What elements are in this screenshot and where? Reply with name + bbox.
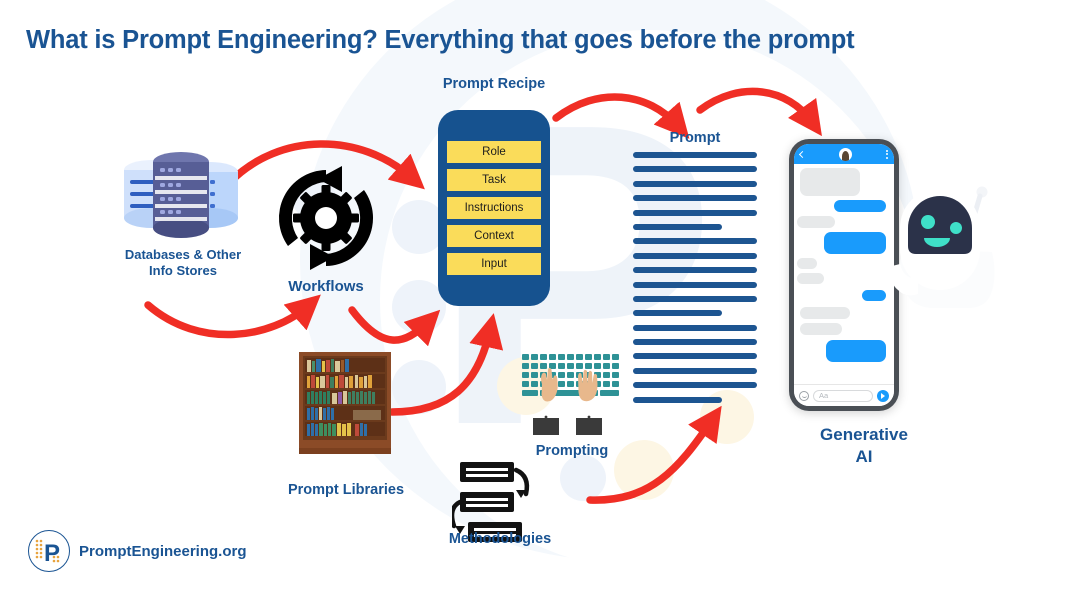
chat-bubble-incoming [800,323,842,335]
recipe-item-input[interactable]: Input [447,253,541,275]
recipe-item-task[interactable]: Task [447,169,541,191]
generative-ai-label-line2: AI [790,446,938,468]
chat-bubble-incoming [800,307,850,319]
prompt-text-line [633,210,757,216]
gear-cycle-icon [268,160,384,276]
chevron-left-icon[interactable] [799,150,806,157]
generative-ai-label: Generative AI [790,424,938,468]
prompt-text-line [633,181,757,187]
chat-bubble-outgoing [824,232,886,254]
prompt-text-line [633,397,722,403]
decor-circle [560,455,606,501]
prompt-recipe-label: Prompt Recipe [428,76,560,94]
prompt-text-line [633,195,757,201]
prompt-text-line [633,339,757,345]
prompt-text-line [633,310,722,316]
bookshelf-icon [299,352,391,457]
brand-logo[interactable]: P PromptEngineering.org [28,530,247,572]
prompt-recipe-card: Role Task Instructions Context Input [438,110,550,306]
chat-message-list [794,164,894,382]
databases-label-line2: Info Stores [108,263,258,279]
chat-bubble-incoming [797,273,824,284]
prompt-text-line [633,325,757,331]
chat-input-bar[interactable]: Aa [794,384,894,406]
phone-screen: Aa [794,144,894,406]
databases-label: Databases & Other Info Stores [108,247,258,279]
prompt-text-line [633,152,757,158]
chat-bubble-incoming [800,168,860,196]
prompt-text-line [633,368,757,374]
keyboard-hands-icon [520,352,624,440]
arrow-workflows-to-recipe [352,310,428,340]
prompt-text-block [633,152,757,411]
workflows-label: Workflows [264,278,388,296]
arrow-prompt-to-genai [700,91,812,122]
prompt-label: Prompt [633,130,757,148]
avatar[interactable] [839,148,852,161]
generative-ai-label-line1: Generative [790,424,938,446]
prompt-text-line [633,282,757,288]
chat-bubble-outgoing [862,290,886,301]
prompt-text-line [633,382,757,388]
prompt-text-line [633,296,757,302]
arrow-to-workflows [148,305,308,335]
infographic-canvas: P What is Prompt Engineering? Everything… [0,0,1080,608]
svg-text:P: P [44,540,60,567]
prompt-libraries-label: Prompt Libraries [275,482,417,500]
arrow-libraries-to-recipe [392,330,490,412]
decor-circle [392,360,446,414]
brand-name: PromptEngineering.org [79,543,247,560]
emoji-smile-icon[interactable] [799,391,809,401]
prompt-text-line [633,353,757,359]
prompt-text-line [633,166,757,172]
prompt-text-line [633,253,757,259]
prompting-label: Prompting [512,443,632,461]
chat-bubble-incoming [797,258,817,269]
prompt-text-line [633,267,757,273]
kebab-menu-icon[interactable] [886,150,888,159]
chat-bubble-incoming [797,216,835,228]
prompt-text-line [633,224,722,230]
chat-header [794,144,894,164]
recipe-item-context[interactable]: Context [447,225,541,247]
chat-bubble-outgoing [834,200,886,212]
recipe-item-instructions[interactable]: Instructions [447,197,541,219]
database-stack-icon [118,150,244,242]
page-title: What is Prompt Engineering? Everything t… [26,26,854,55]
chat-input-field[interactable]: Aa [813,390,873,402]
methodologies-label: Methodologies [415,531,585,549]
arrow-recipe-to-prompt [556,97,678,126]
prompt-text-line [633,238,757,244]
robot-icon [884,178,1006,308]
send-arrow-icon[interactable] [877,390,889,402]
databases-label-line1: Databases & Other [108,247,258,263]
logo-mark-icon: P [28,530,70,572]
phone-mockup: Aa [789,139,899,411]
recipe-item-role[interactable]: Role [447,141,541,163]
chat-bubble-outgoing [826,340,886,362]
